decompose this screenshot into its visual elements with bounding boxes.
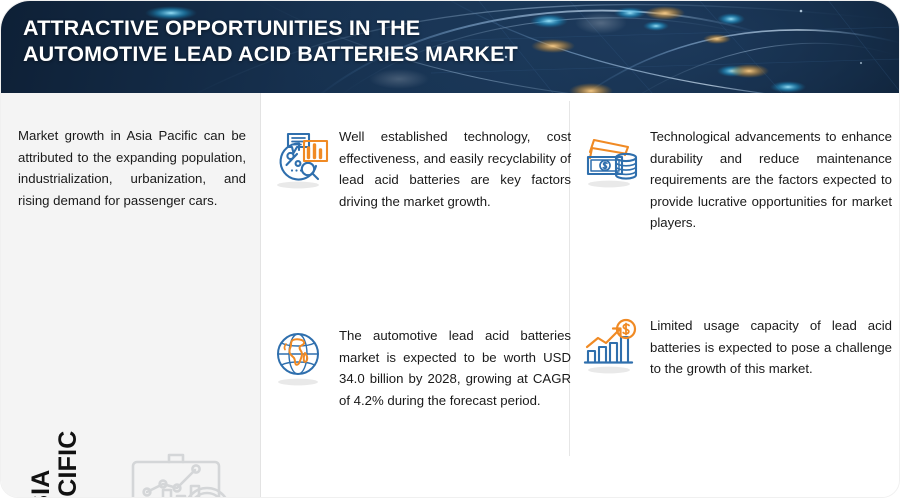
infographic-card-shell: ATTRACTIVE OPPORTUNITIES IN THE AUTOMOTI… [0,0,900,498]
cards-grid: Well established technology, cost effect… [260,93,900,498]
presentation-board-chart-magnifier-icon [119,448,247,498]
growth-bar-chart-dollar-icon [580,317,642,379]
card-text: Limited usage capacity of lead acid batt… [650,315,892,380]
region-label-line-1: ASIA [28,370,55,498]
pie-chart-percent-magnifier-bar-chart-icon [269,128,331,190]
card-limited-usage-capacity: Limited usage capacity of lead acid batt… [580,315,892,380]
card-market-value-forecast: The automotive lead acid batteries marke… [269,325,571,411]
region-panel: Market growth in Asia Pacific can be att… [1,93,260,498]
globe-world-icon [269,327,331,389]
card-well-established-technology: Well established technology, cost effect… [269,126,571,212]
header-title: ATTRACTIVE OPPORTUNITIES IN THE AUTOMOTI… [23,15,663,67]
infographic-root: ATTRACTIVE OPPORTUNITIES IN THE AUTOMOTI… [0,0,900,498]
card-text: The automotive lead acid batteries marke… [339,325,571,411]
header-title-line-2: AUTOMOTIVE LEAD ACID BATTERIES MARKET [23,41,663,67]
card-technological-advancements: Technological advancements to enhance du… [580,126,892,234]
region-intro-text: Market growth in Asia Pacific can be att… [18,125,246,211]
region-label-line-2: PACIFIC [55,370,82,498]
banknotes-coins-money-icon [580,128,642,190]
card-text: Well established technology, cost effect… [339,126,571,212]
header-banner: ATTRACTIVE OPPORTUNITIES IN THE AUTOMOTI… [1,1,900,93]
region-label: ASIA PACIFIC [28,370,82,498]
header-title-line-1: ATTRACTIVE OPPORTUNITIES IN THE [23,15,663,41]
card-text: Technological advancements to enhance du… [650,126,892,234]
content-area: Market growth in Asia Pacific can be att… [1,93,900,498]
